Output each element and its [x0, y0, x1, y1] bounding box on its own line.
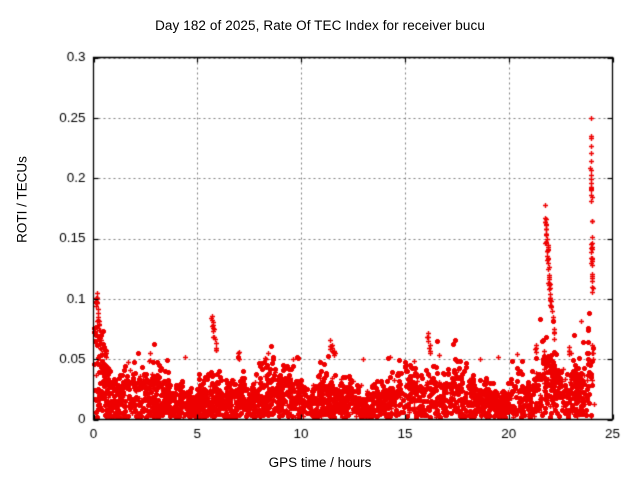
page-title: Day 182 of 2025, Rate Of TEC Index for r… [0, 18, 640, 33]
chart-figure: Day 182 of 2025, Rate Of TEC Index for r… [0, 0, 640, 480]
scatter-plot-canvas [0, 0, 640, 480]
y-axis-label: ROTI / TECUs [15, 130, 30, 270]
plot-canvas-container [0, 0, 640, 480]
x-axis-label: GPS time / hours [0, 455, 640, 470]
